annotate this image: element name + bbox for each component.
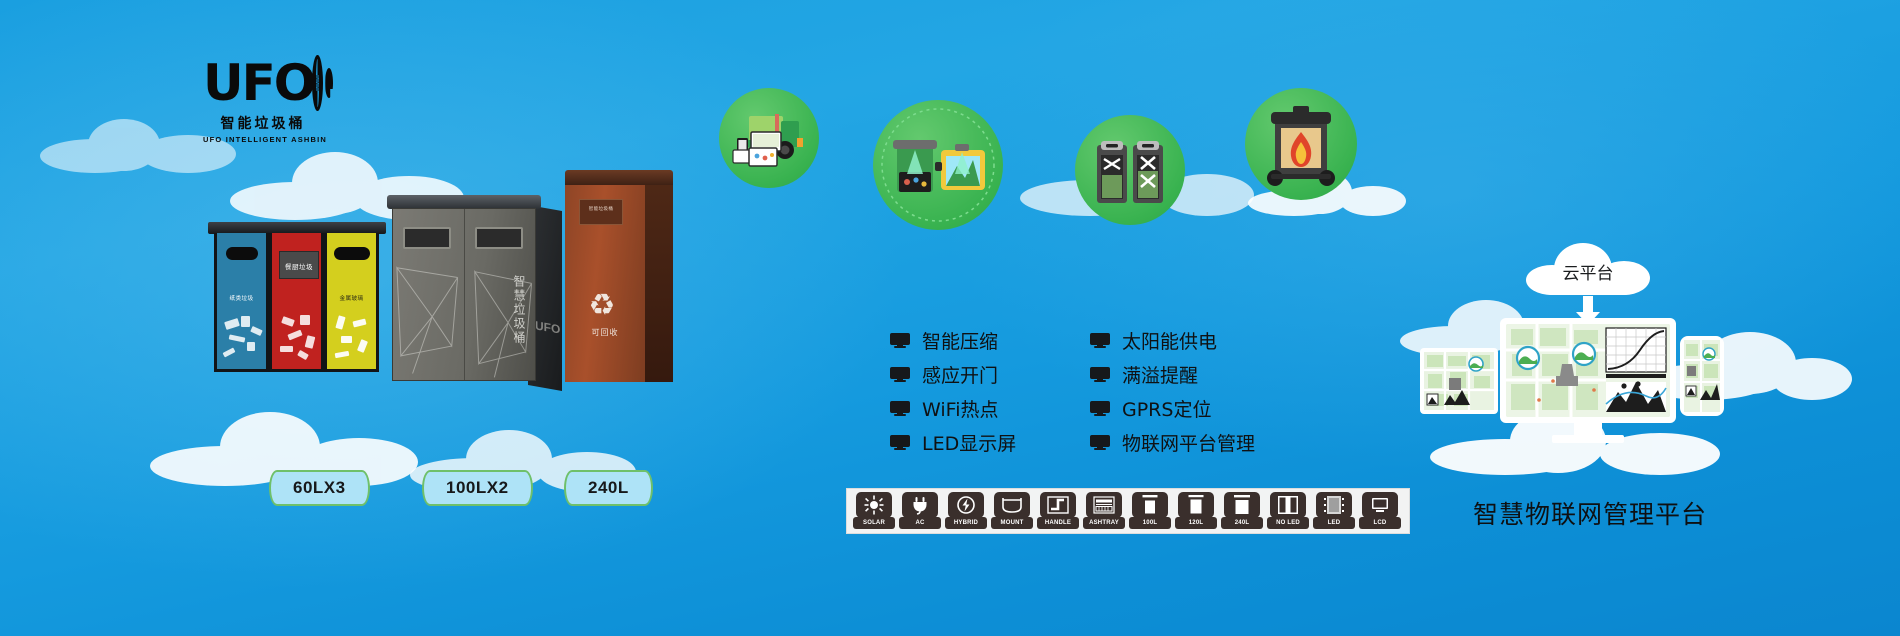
feature-circle-compaction [1075,115,1185,225]
spec-item-240l[interactable]: 240L [1221,492,1263,530]
platform-caption: 智慧物联网管理平台 [1440,495,1740,531]
product-bin-100lx2: UFO 智慧 [392,195,536,381]
capacity-badge-60lx3: 60LX3 [275,470,364,506]
bin-pattern-icon [393,209,463,378]
feature-circle-fleet-management [719,88,819,188]
feature-list-left: 智能压缩 感应开门 WiFi热点 LED显示屏 [890,323,1016,459]
desktop-monitor [1500,318,1676,444]
bin-sensor-fill-level-icon [873,100,1003,230]
spec-item-ac[interactable]: AC [899,492,941,530]
bin-compartment: 智慧垃圾桶 [465,209,536,380]
capacity-label: 240L [588,478,629,498]
logo-cn-name: 智能垃圾桶 [203,113,323,133]
bin-100l-icon [1132,492,1168,518]
logo-wordmark: UFO [203,58,314,108]
monitor-bullet-icon [1090,435,1110,450]
bin-lid [565,170,673,186]
spec-label: AC [899,517,941,529]
phone-map-view [1684,340,1720,412]
no-led-icon [1270,492,1306,518]
monitor-bullet-icon [890,435,910,450]
bin-120l-icon [1178,492,1214,518]
lcd-icon [1362,492,1398,518]
spec-label: 120L [1175,517,1217,529]
recycle-icon: ♻ [585,289,619,323]
sun-icon [856,492,892,518]
capacity-badge-240l: 240L [570,470,647,506]
bin-control-panel: 智能垃圾桶 [579,199,623,225]
bin-slot [334,247,370,260]
feature-label: LED显示屏 [922,429,1016,456]
monitor-neck [1574,422,1602,436]
bin-side-panel [644,185,673,382]
product-bin-60lx3: 纸类垃圾 餐厨垃圾 [214,222,380,374]
spec-label: HYBRID [945,517,987,529]
feature-label: 满溢提醒 [1122,361,1198,388]
spec-icon-strip: SOLAR AC HYBRID [846,488,1410,534]
bin-body: 智能垃圾桶 ♻ 可回收 [565,185,645,382]
monitor-bezel [1500,318,1676,423]
monitor-bullet-icon [1090,367,1110,382]
feature-label: GPRS定位 [1122,395,1211,422]
bin-side-mark: UFO [535,318,560,336]
spec-item-lcd[interactable]: LCD [1359,492,1401,530]
map-thumbnail-icon [1424,352,1494,410]
feature-item: GPRS定位 [1090,391,1255,425]
spec-label: MOUNT [991,517,1033,529]
monitor-bullet-icon [1090,401,1110,416]
feature-label: 物联网平台管理 [1122,429,1255,456]
monitor-base [1552,435,1624,443]
feature-circle-fire-detection [1245,88,1357,200]
feature-label: 太阳能供电 [1122,327,1217,354]
spec-item-100l[interactable]: 100L [1129,492,1171,530]
spec-item-120l[interactable]: 120L [1175,492,1217,530]
brand-logo: UFO 智能垃圾桶 UFO INTELLIGENT ASHBIN [203,55,323,147]
monitor-bullet-icon [890,401,910,416]
spec-item-no-led[interactable]: NO LED [1267,492,1309,530]
tablet-map-view [1424,352,1494,410]
bin-240l-icon [1224,492,1260,518]
feature-item: 物联网平台管理 [1090,425,1255,459]
twin-bin-compaction-icon [1075,115,1185,225]
spec-item-mount[interactable]: MOUNT [991,492,1033,530]
spec-item-hybrid[interactable]: HYBRID [945,492,987,530]
spec-item-led[interactable]: LED [1313,492,1355,530]
feature-item: LED显示屏 [890,425,1016,459]
product-bin-240l: 智能垃圾桶 ♻ 可回收 [565,170,673,382]
feature-item: 感应开门 [890,357,1016,391]
bin-fire-alarm-icon [1245,88,1357,200]
map-thumbnail-icon [1684,340,1720,412]
cloud-platform-label: 云平台 [1526,259,1650,284]
spec-item-handle[interactable]: HANDLE [1037,492,1079,530]
plug-icon [902,492,938,518]
dashboard-map-and-chart-icon [1506,324,1670,417]
spec-label: 240L [1221,517,1263,529]
feature-circle-fill-level-sensing [873,100,1003,230]
bin-compartment-label: 餐厨垃圾 [280,261,318,271]
monitor-bullet-icon [890,333,910,348]
tablet-device [1420,348,1498,414]
feature-item: 满溢提醒 [1090,357,1255,391]
bin-lid [387,195,541,209]
spec-label: ASHTRAY [1083,517,1125,529]
spec-label: 100L [1129,517,1171,529]
bin-compartment: 餐厨垃圾 [269,233,324,372]
bin-side-text: 智慧垃圾桶 [511,275,528,345]
monitor-screen [1506,324,1670,417]
spec-label: SOLAR [853,517,895,529]
monitor-bullet-icon [1090,333,1110,348]
spec-label: LED [1313,517,1355,529]
feature-label: WiFi热点 [922,395,998,422]
bin-slot [226,247,258,260]
bin-plate: 餐厨垃圾 [279,251,319,279]
spec-label: HANDLE [1037,517,1079,529]
feature-item: 太阳能供电 [1090,323,1255,357]
spec-item-ashtray[interactable]: ASHTRAY [1083,492,1125,530]
handle-icon [1040,492,1076,518]
bin-compartment-label: 金属玻璃 [327,294,376,302]
feature-label: 智能压缩 [922,327,998,354]
hybrid-power-icon [948,492,984,518]
bin-compartment [393,209,465,380]
bin-body: 纸类垃圾 餐厨垃圾 [214,233,379,372]
feature-item: WiFi热点 [890,391,1016,425]
logo-ring-icon [312,55,323,111]
ashtray-icon [1086,492,1122,518]
capacity-badge-100lx2: 100LX2 [428,470,527,506]
bin-compartment: 纸类垃圾 [214,233,269,372]
spec-label: LCD [1359,517,1401,529]
promo-banner: UFO 智能垃圾桶 UFO INTELLIGENT ASHBIN 纸类垃圾 [0,0,1900,636]
bin-recycle-label: 可回收 [565,327,645,338]
spec-label: NO LED [1267,517,1309,529]
feature-label: 感应开门 [922,361,998,388]
bin-compartment: 金属玻璃 [324,233,379,372]
feature-list-right: 太阳能供电 满溢提醒 GPRS定位 物联网平台管理 [1090,323,1255,459]
logo-wordmark-row: UFO [203,55,323,111]
logo-en-name: UFO INTELLIGENT ASHBIN [203,135,323,144]
cloud-platform-badge: 云平台 [1526,243,1650,295]
spec-item-solar[interactable]: SOLAR [853,492,895,530]
phone-device [1680,336,1724,416]
feature-item: 智能压缩 [890,323,1016,357]
capacity-label: 100LX2 [446,478,509,498]
bin-compartment-label: 纸类垃圾 [217,294,266,302]
capacity-label: 60LX3 [293,478,346,498]
bin-body: 智慧垃圾桶 [392,208,536,381]
led-icon [1316,492,1352,518]
garbage-truck-and-devices-icon [719,88,819,188]
monitor-bullet-icon [890,367,910,382]
bin-panel-text: 智能垃圾桶 [580,206,622,213]
wall-mount-icon [994,492,1030,518]
